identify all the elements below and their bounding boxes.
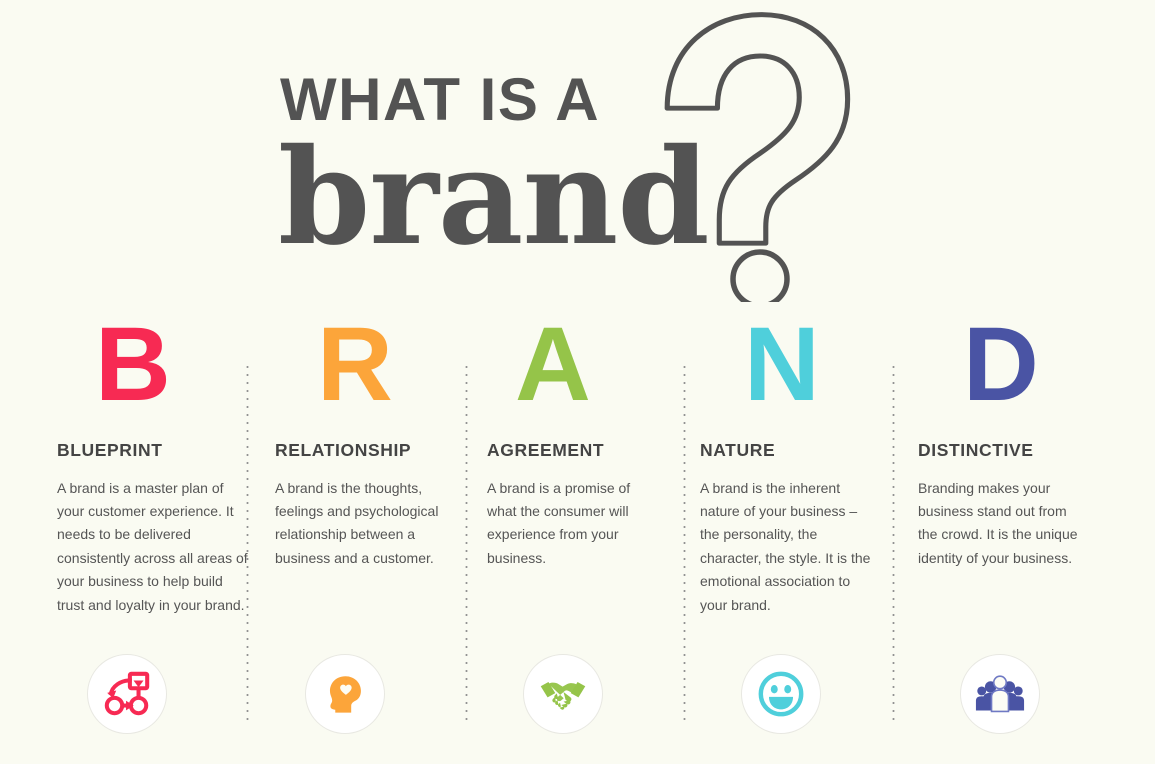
heading-blueprint: BLUEPRINT (57, 442, 249, 460)
body-relationship: A brand is the thoughts, feelings and ps… (275, 477, 467, 571)
handshake-icon (523, 654, 603, 734)
title-line-brand: brand (278, 132, 709, 264)
flowchart-blueprint-icon (87, 654, 167, 734)
head-with-heart-icon (305, 654, 385, 734)
infographic-canvas: WHAT IS A brand B BLUEPRINT A brand is a… (0, 0, 1155, 764)
column-relationship: R RELATIONSHIP A brand is the thoughts, … (275, 312, 467, 570)
column-nature: N NATURE A brand is the inherent nature … (700, 312, 880, 617)
heading-relationship: RELATIONSHIP (275, 442, 467, 460)
column-distinctive: D DISTINCTIVE Branding makes your busine… (918, 312, 1088, 570)
body-agreement: A brand is a promise of what the consume… (487, 477, 652, 571)
big-letter-b: B (57, 312, 249, 408)
smiley-face-icon (741, 654, 821, 734)
body-nature: A brand is the inherent nature of your b… (700, 477, 880, 617)
heading-agreement: AGREEMENT (487, 442, 652, 460)
big-letter-d: D (918, 312, 1088, 408)
heading-nature: NATURE (700, 442, 880, 460)
big-letter-n: N (700, 312, 880, 408)
body-distinctive: Branding makes your business stand out f… (918, 477, 1088, 571)
big-letter-a: A (487, 312, 652, 408)
big-letter-r: R (275, 312, 467, 408)
column-agreement: A AGREEMENT A brand is a promise of what… (487, 312, 652, 570)
group-of-people-icon (960, 654, 1040, 734)
title-block: WHAT IS A brand (0, 0, 1155, 310)
column-blueprint: B BLUEPRINT A brand is a master plan of … (57, 312, 249, 617)
body-blueprint: A brand is a master plan of your custome… (57, 477, 249, 617)
question-mark-outline-icon (648, 2, 878, 302)
heading-distinctive: DISTINCTIVE (918, 442, 1088, 460)
